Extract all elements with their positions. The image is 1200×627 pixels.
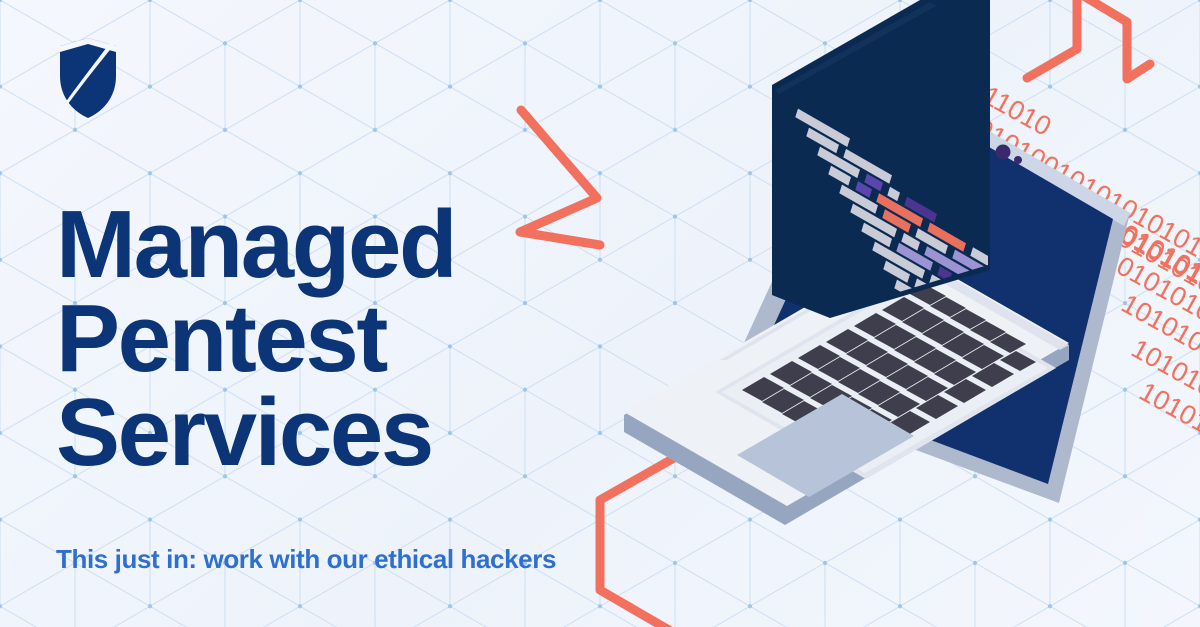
- page-title: Managed Pentest Services: [56, 198, 676, 480]
- text-content: Managed Pentest Services This just in: w…: [56, 36, 676, 596]
- zigzag-top-right-icon: [1027, 0, 1150, 79]
- headline-line-2: Pentest: [56, 292, 676, 386]
- headline-line-1: Managed: [56, 198, 676, 292]
- webcam-dot: [996, 145, 1011, 160]
- indicator-dot: [1014, 156, 1022, 164]
- shield-swoosh-icon: [56, 36, 120, 120]
- subtitle: This just in: work with our ethical hack…: [56, 544, 676, 575]
- code-line-segment: [1101, 424, 1120, 442]
- headline-line-3: Services: [56, 386, 676, 480]
- marketing-banner: 01011010 0101010010101010101010 10101010…: [0, 0, 1200, 627]
